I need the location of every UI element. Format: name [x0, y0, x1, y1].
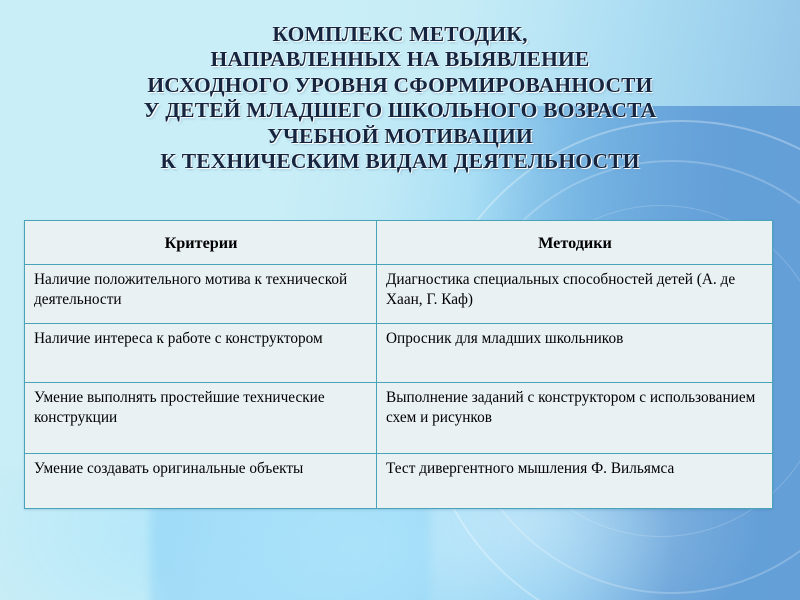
cell-method: Опросник для младших школьников: [377, 324, 773, 383]
criteria-methods-table: Критерии Методики Наличие положительного…: [24, 220, 773, 509]
title-line-1: КОМПЛЕКС МЕТОДИК,: [0, 22, 800, 47]
title-line-4: У ДЕТЕЙ МЛАДШЕГО ШКОЛЬНОГО ВОЗРАСТА: [0, 98, 800, 123]
slide-title: КОМПЛЕКС МЕТОДИК, НАПРАВЛЕННЫХ НА ВЫЯВЛЕ…: [0, 22, 800, 174]
table-header-row: Критерии Методики: [25, 221, 773, 265]
title-line-3: ИСХОДНОГО УРОВНЯ СФОРМИРОВАННОСТИ: [0, 73, 800, 98]
column-header-methods: Методики: [377, 221, 773, 265]
cell-criterion: Умение выполнять простейшие технические …: [25, 383, 377, 454]
table-row: Умение создавать оригинальные объекты Те…: [25, 454, 773, 509]
table-row: Наличие положительного мотива к техничес…: [25, 265, 773, 324]
cell-criterion: Наличие интереса к работе с конструкторо…: [25, 324, 377, 383]
cell-method: Диагностика специальных способностей дет…: [377, 265, 773, 324]
table-row: Умение выполнять простейшие технические …: [25, 383, 773, 454]
cell-criterion: Наличие положительного мотива к техничес…: [25, 265, 377, 324]
column-header-criteria: Критерии: [25, 221, 377, 265]
cell-criterion: Умение создавать оригинальные объекты: [25, 454, 377, 509]
background-blob-highlight: [430, 505, 760, 600]
title-line-6: К ТЕХНИЧЕСКИМ ВИДАМ ДЕЯТЕЛЬНОСТИ: [0, 149, 800, 174]
title-line-2: НАПРАВЛЕННЫХ НА ВЫЯВЛЕНИЕ: [0, 47, 800, 72]
cell-method: Выполнение заданий с конструктором с исп…: [377, 383, 773, 454]
cell-method: Тест дивергентного мышления Ф. Вильямса: [377, 454, 773, 509]
title-line-5: УЧЕБНОЙ МОТИВАЦИИ: [0, 124, 800, 149]
slide-canvas: КОМПЛЕКС МЕТОДИК, НАПРАВЛЕННЫХ НА ВЫЯВЛЕ…: [0, 0, 800, 600]
table-row: Наличие интереса к работе с конструкторо…: [25, 324, 773, 383]
